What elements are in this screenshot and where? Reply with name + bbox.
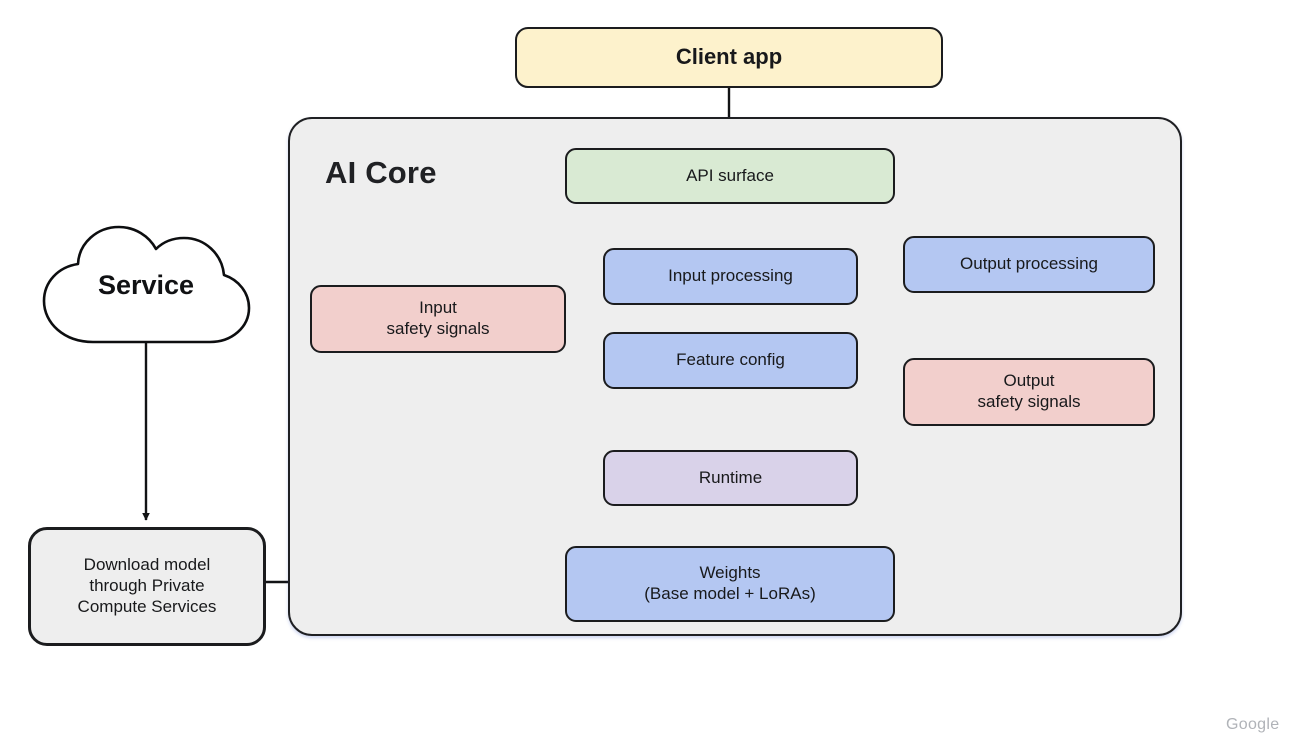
- node-output-processing-label: Output processing: [960, 254, 1098, 275]
- ai-core-panel-title: AI Core: [325, 155, 437, 191]
- node-feature-config-label: Feature config: [676, 350, 785, 371]
- node-input-safety-signals-label: Input safety signals: [387, 298, 490, 339]
- node-download-model-label: Download model through Private Compute S…: [78, 555, 217, 617]
- node-runtime[interactable]: Runtime: [603, 450, 858, 506]
- node-weights-label: Weights (Base model + LoRAs): [644, 563, 816, 604]
- diagram-canvas: AI Core Client app API surface Input pro…: [0, 0, 1304, 756]
- node-service[interactable]: Service: [38, 222, 254, 346]
- node-output-safety-signals-label: Output safety signals: [978, 371, 1081, 412]
- node-weights[interactable]: Weights (Base model + LoRAs): [565, 546, 895, 622]
- node-service-label: Service: [38, 270, 254, 301]
- node-input-processing-label: Input processing: [668, 266, 793, 287]
- node-output-safety-signals[interactable]: Output safety signals: [903, 358, 1155, 426]
- node-output-processing[interactable]: Output processing: [903, 236, 1155, 293]
- node-client-app[interactable]: Client app: [515, 27, 943, 88]
- node-client-app-label: Client app: [676, 44, 782, 71]
- node-download-model[interactable]: Download model through Private Compute S…: [28, 527, 266, 646]
- node-input-processing[interactable]: Input processing: [603, 248, 858, 305]
- node-api-surface-label: API surface: [686, 166, 774, 187]
- node-runtime-label: Runtime: [699, 468, 762, 489]
- node-input-safety-signals[interactable]: Input safety signals: [310, 285, 566, 353]
- google-watermark: Google: [1226, 716, 1279, 734]
- node-api-surface[interactable]: API surface: [565, 148, 895, 204]
- node-feature-config[interactable]: Feature config: [603, 332, 858, 389]
